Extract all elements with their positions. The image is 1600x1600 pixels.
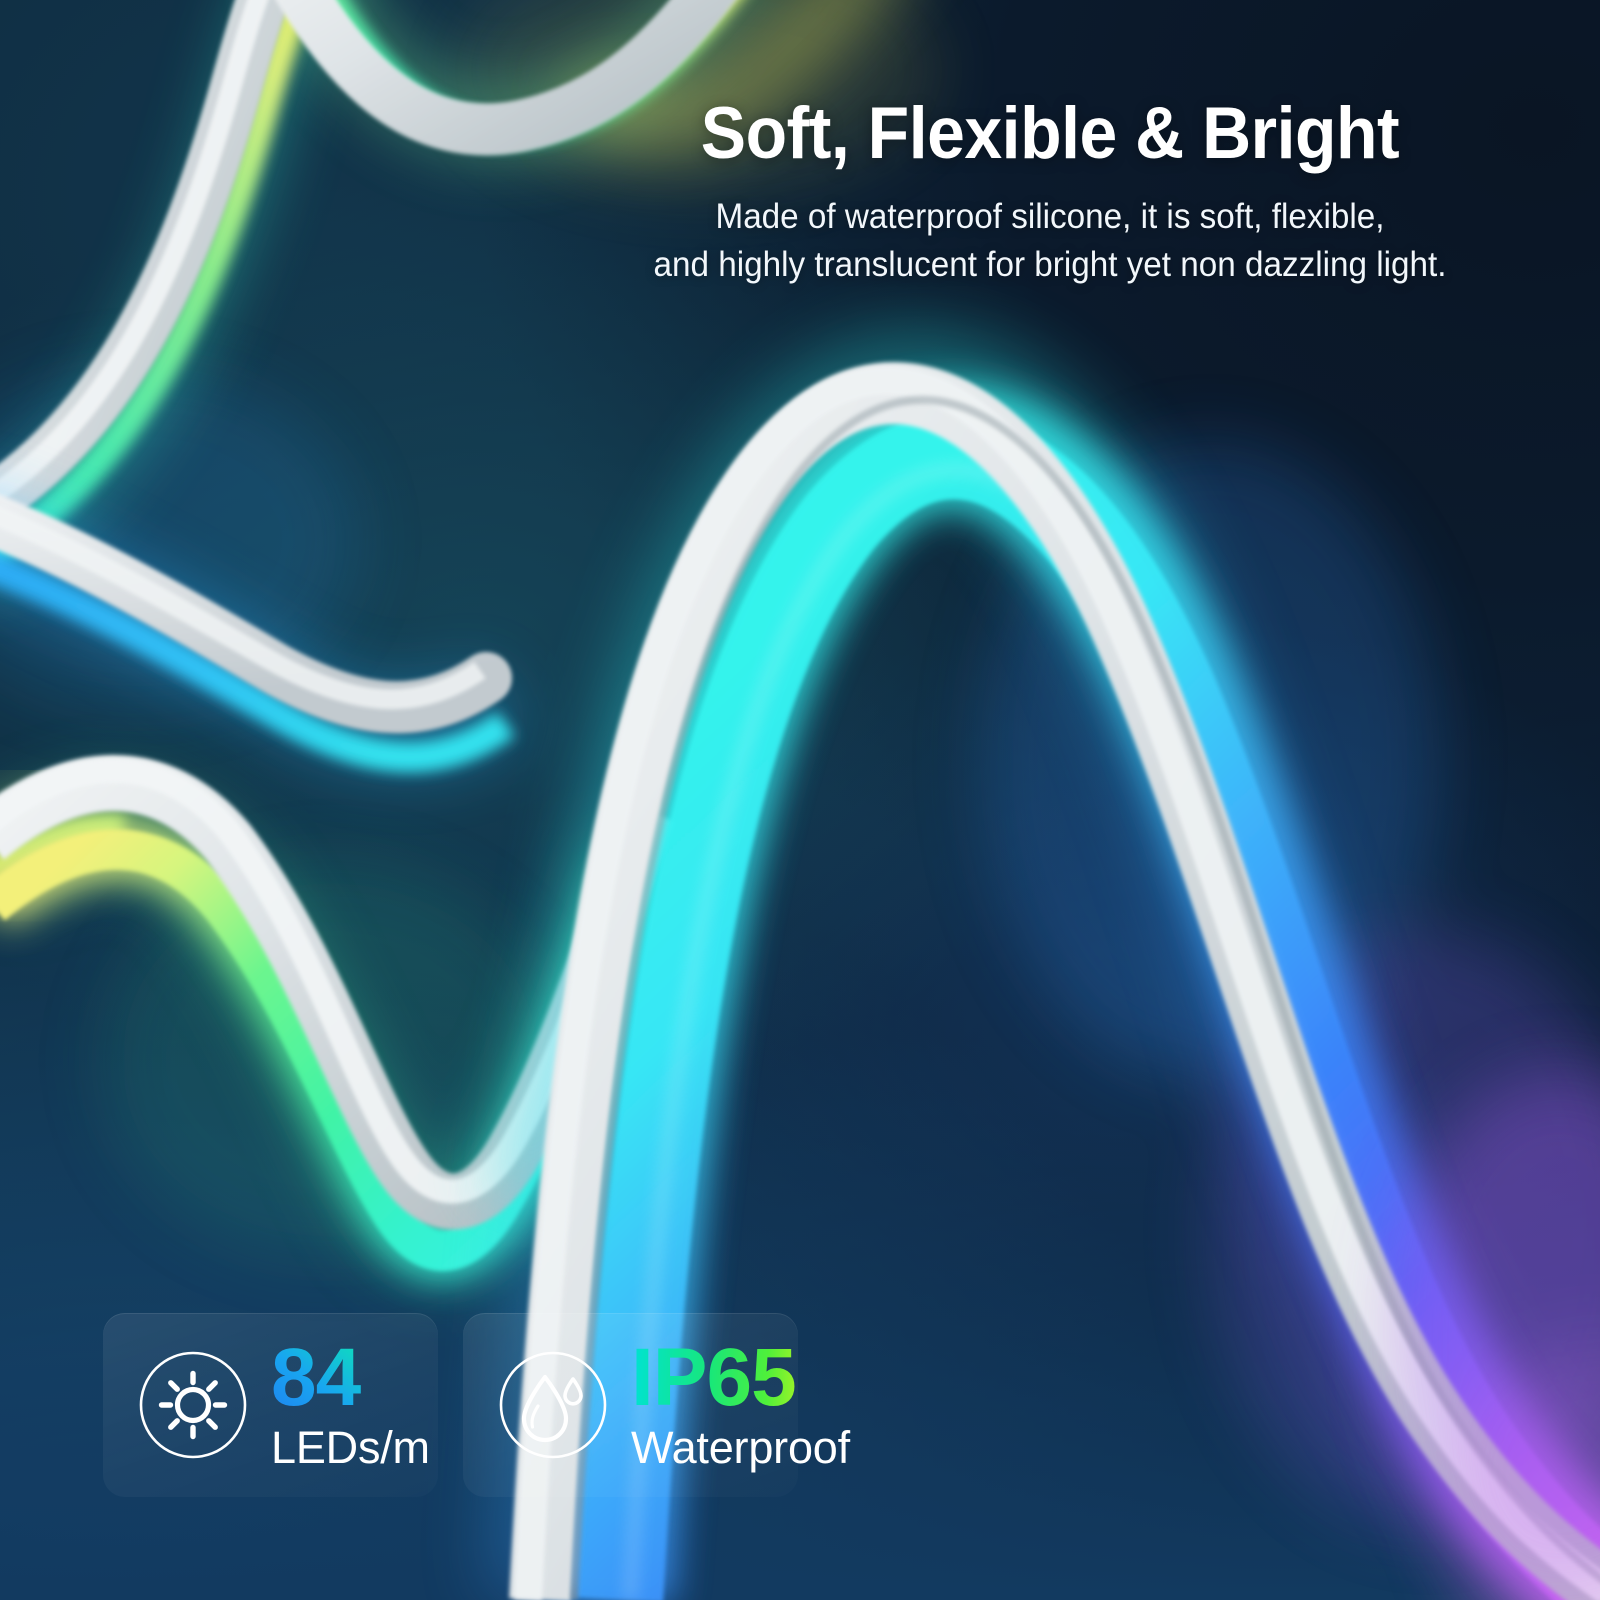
brightness-sun-icon <box>137 1349 249 1461</box>
page-subtitle: Made of waterproof silicone, it is soft,… <box>623 193 1478 290</box>
badge-ip-rating: IP65 Waterproof <box>463 1313 798 1497</box>
product-feature-image: Soft, Flexible & Bright Made of waterpro… <box>0 0 1600 1600</box>
subtitle-line-2: and highly translucent for bright yet no… <box>623 241 1478 289</box>
badge-label-leds: LEDs/m <box>271 1425 430 1470</box>
water-droplet-icon <box>497 1349 609 1461</box>
subtitle-line-1: Made of waterproof silicone, it is soft,… <box>623 193 1478 241</box>
badge-text-leds: 84 LEDs/m <box>271 1340 430 1469</box>
page-title: Soft, Flexible & Bright <box>632 96 1469 173</box>
badge-leds-per-meter: 84 LEDs/m <box>103 1313 438 1497</box>
badge-label-ip: Waterproof <box>631 1425 850 1470</box>
feature-badges: 84 LEDs/m IP65 Waterproof <box>103 1313 798 1497</box>
badge-value-ip: IP65 <box>631 1340 850 1415</box>
copy-block: Soft, Flexible & Bright Made of waterpro… <box>600 96 1500 289</box>
badge-value-leds: 84 <box>271 1340 430 1415</box>
badge-text-ip: IP65 Waterproof <box>631 1340 850 1469</box>
